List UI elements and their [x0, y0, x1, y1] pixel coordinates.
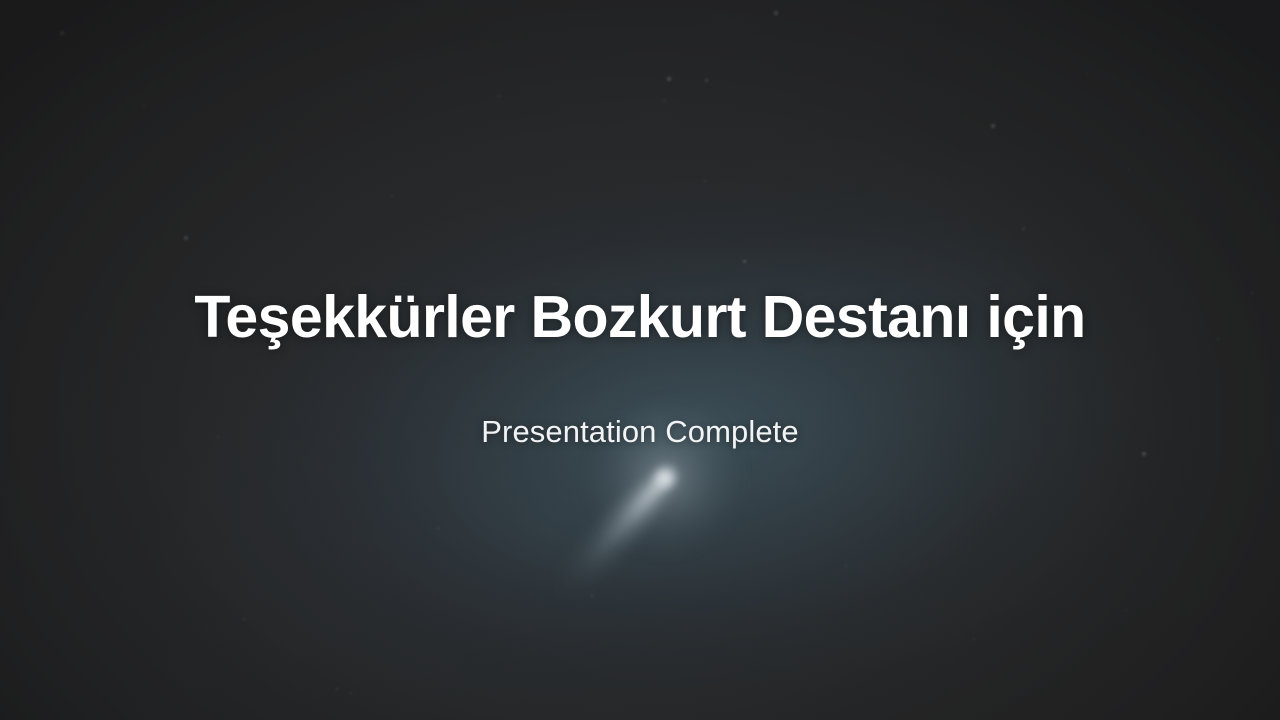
slide-subtitle: Presentation Complete [0, 410, 1280, 454]
slide-content: Teşekkürler Bozkurt Destanı için Present… [0, 0, 1280, 720]
slide-title: Teşekkürler Bozkurt Destanı için [0, 281, 1280, 353]
presentation-slide: Teşekkürler Bozkurt Destanı için Present… [0, 0, 1280, 720]
